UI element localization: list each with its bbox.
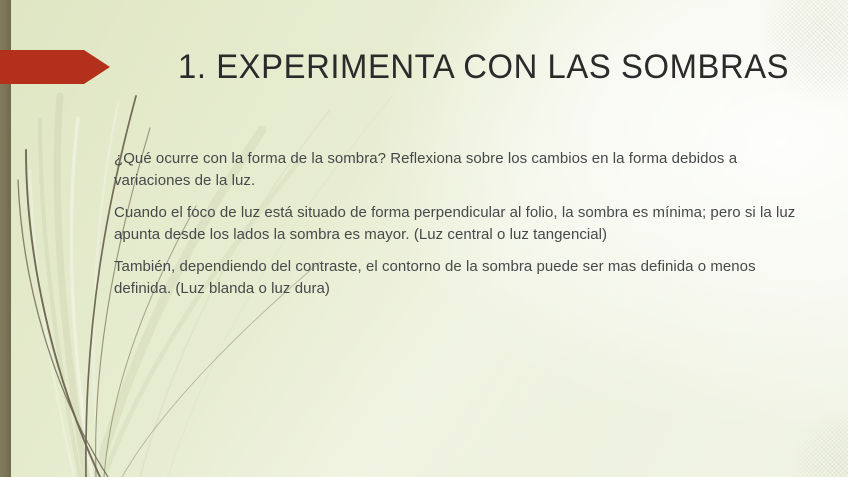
page-title: 1. EXPERIMENTA CON LAS SOMBRAS	[178, 46, 796, 88]
presentation-slide: 1. EXPERIMENTA CON LAS SOMBRAS ¿Qué ocur…	[0, 0, 848, 477]
slide-body-content: ¿Qué ocurre con la forma de la sombra? R…	[114, 148, 800, 300]
body-paragraph: ¿Qué ocurre con la forma de la sombra? R…	[114, 148, 800, 192]
body-paragraph: También, dependiendo del contraste, el c…	[114, 256, 800, 300]
body-paragraph: Cuando el foco de luz está situado de fo…	[114, 202, 800, 246]
